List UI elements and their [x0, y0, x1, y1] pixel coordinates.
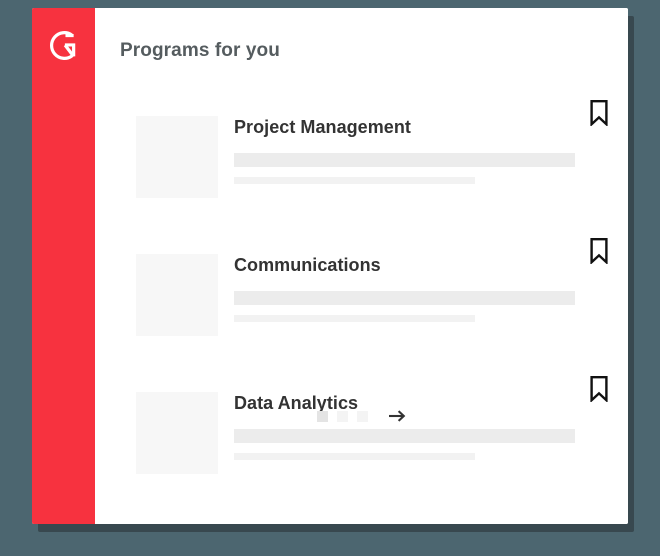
skeleton-description-line — [234, 291, 575, 305]
programs-card: Programs for you Project Management — [32, 8, 628, 524]
skeleton-meta-line — [234, 453, 475, 460]
image-placeholder-icon — [136, 392, 218, 474]
program-details: Data Analytics — [234, 392, 606, 460]
bookmark-outline-icon[interactable] — [588, 376, 610, 402]
arrow-right-icon[interactable] — [388, 408, 406, 424]
page-title: Programs for you — [120, 40, 280, 62]
pagination-dot-2[interactable] — [337, 411, 348, 422]
image-placeholder-icon — [136, 116, 218, 198]
program-list-item[interactable]: Data Analytics — [95, 376, 628, 514]
bookmark-outline-icon[interactable] — [588, 238, 610, 264]
letter-g-monogram-logo-icon[interactable] — [47, 28, 82, 63]
program-title: Project Management — [234, 116, 606, 138]
brand-sidebar — [32, 8, 95, 524]
skeleton-description-line — [234, 153, 575, 167]
skeleton-meta-line — [234, 315, 475, 322]
program-list-item[interactable]: Project Management — [95, 100, 628, 238]
program-list-item[interactable]: Communications — [95, 238, 628, 376]
program-list: Project Management Communications — [95, 100, 628, 514]
pagination-dot-3[interactable] — [357, 411, 368, 422]
pagination-dot-1[interactable] — [317, 411, 328, 422]
program-title: Communications — [234, 254, 606, 276]
image-placeholder-icon — [136, 254, 218, 336]
pagination — [95, 408, 628, 424]
skeleton-description-line — [234, 429, 575, 443]
screenshot-stage: Programs for you Project Management — [0, 0, 660, 556]
skeleton-meta-line — [234, 177, 475, 184]
bookmark-outline-icon[interactable] — [588, 100, 610, 126]
content-area: Programs for you Project Management — [95, 8, 628, 524]
program-details: Project Management — [234, 116, 606, 184]
program-details: Communications — [234, 254, 606, 322]
